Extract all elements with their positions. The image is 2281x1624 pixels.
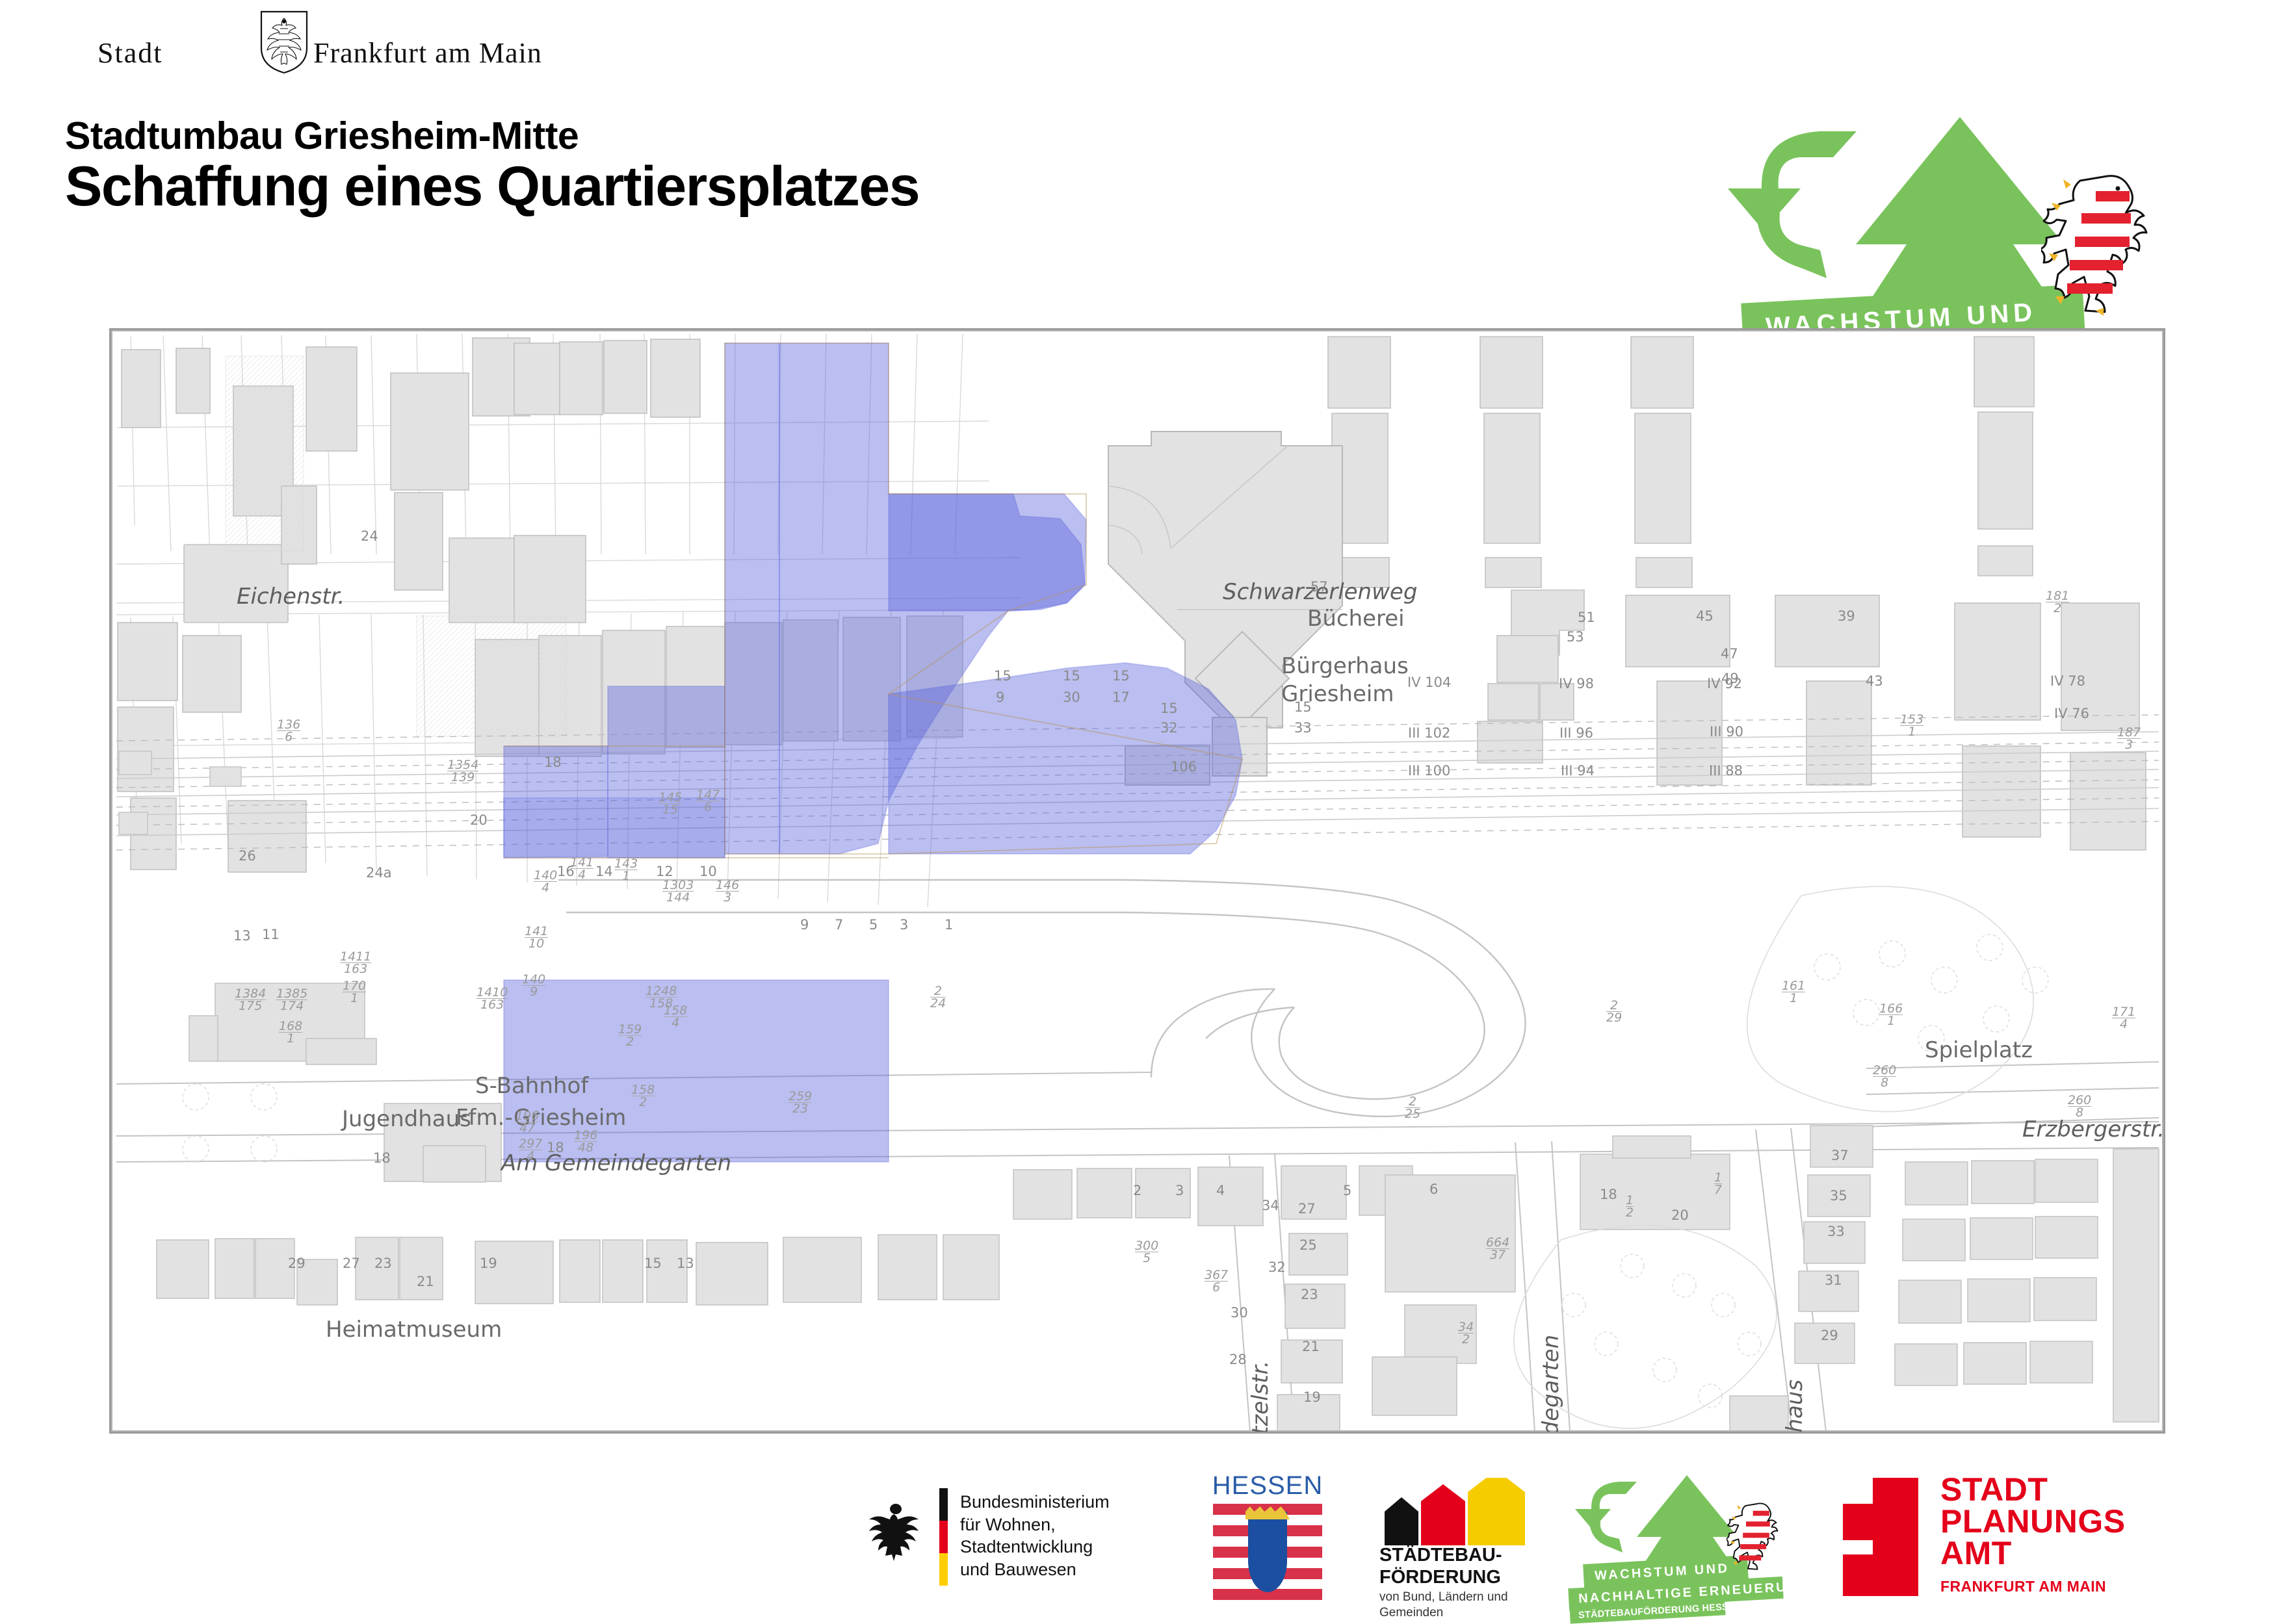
spa-wordmark: STADT PLANUNGS AMT bbox=[1940, 1474, 2126, 1569]
house-number-67: 29 bbox=[288, 1256, 306, 1271]
house-number-46: 18 bbox=[1600, 1187, 1617, 1202]
house-number-8: 10 bbox=[699, 864, 717, 879]
street-label-2: Erzbergerstr. bbox=[2022, 1116, 2165, 1142]
house-number-2: 26 bbox=[239, 848, 256, 864]
house-number-31: III 90 bbox=[1710, 724, 1743, 740]
parcel-number-4: 14515 bbox=[658, 792, 682, 816]
parcel-number-10: 1409 bbox=[522, 973, 545, 998]
bmwsb-text: Bundesministerium für Wohnen, Stadtentwi… bbox=[960, 1491, 1173, 1580]
house-number-28: IV 76 bbox=[2054, 706, 2089, 721]
parcel-number-27: 1661 bbox=[1879, 1003, 1903, 1027]
place-label-3: S-Bahnhof bbox=[475, 1073, 588, 1099]
bmwsb-line-3: und Bauwesen bbox=[960, 1558, 1173, 1581]
house-number-49: 35 bbox=[1830, 1188, 1847, 1204]
house-number-61: 28 bbox=[1229, 1352, 1247, 1367]
house-number-42: 15 bbox=[1160, 701, 1178, 716]
parcel-number-6: 1303144 bbox=[662, 879, 694, 903]
house-number-58: 34 bbox=[1262, 1198, 1279, 1213]
house-number-17: 51 bbox=[1578, 610, 1595, 625]
house-number-25: IV 98 bbox=[1559, 676, 1594, 691]
house-number-47: 20 bbox=[1671, 1207, 1689, 1223]
house-number-50: 33 bbox=[1827, 1224, 1845, 1239]
house-number-18: 53 bbox=[1567, 629, 1584, 645]
house-number-1: 24a bbox=[366, 865, 392, 881]
parcel-number-15: 1681 bbox=[279, 1020, 302, 1044]
house-number-39: 30 bbox=[1063, 690, 1080, 705]
three-houses-icon bbox=[1378, 1478, 1573, 1545]
parcel-number-0: 1366 bbox=[277, 719, 300, 743]
place-label-5: Jugendhaus bbox=[342, 1106, 471, 1132]
staedtebau-sub-1: von Bund, Ländern und bbox=[1379, 1590, 1508, 1605]
german-flag-bar bbox=[939, 1488, 948, 1586]
parcel-number-21: 25923 bbox=[789, 1090, 812, 1115]
house-number-9: 11 bbox=[262, 927, 280, 942]
house-number-52: 29 bbox=[1821, 1328, 1838, 1343]
house-number-43: 32 bbox=[1160, 720, 1178, 736]
house-number-13: 5 bbox=[869, 917, 878, 933]
house-number-71: 19 bbox=[480, 1256, 497, 1271]
stadtplanungsamt-logo: STADT PLANUNGS AMT FRANKFURT AM MAIN bbox=[1843, 1474, 2181, 1604]
house-number-57: 6 bbox=[1429, 1181, 1438, 1197]
house-number-54: 3 bbox=[1175, 1183, 1184, 1198]
house-number-74: 18 bbox=[373, 1150, 391, 1166]
parcel-number-3: 1431 bbox=[614, 858, 638, 882]
funding-logo-strip: Bundesministerium für Wohnen, Stadtentwi… bbox=[0, 1462, 2281, 1612]
parcel-number-30: 1812 bbox=[2046, 590, 2069, 614]
hessen-lion-icon bbox=[1727, 1500, 1786, 1573]
parcel-number-40: 17 bbox=[1714, 1172, 1722, 1196]
parcel-number-13: 1385174 bbox=[276, 988, 307, 1012]
house-number-21: 47 bbox=[1721, 646, 1738, 662]
page-title: Schaffung eines Quartiersplatzes bbox=[65, 155, 919, 219]
house-number-51: 31 bbox=[1825, 1272, 1842, 1288]
parcel-number-31: 19647 bbox=[515, 1110, 539, 1134]
house-number-60: 30 bbox=[1231, 1305, 1248, 1321]
parcel-number-28: 1714 bbox=[2112, 1006, 2135, 1030]
hessen-shield-icon bbox=[1213, 1504, 1322, 1600]
house-number-69: 23 bbox=[374, 1256, 392, 1271]
logo-word-stadt: Stadt bbox=[98, 36, 163, 70]
house-number-15: 1 bbox=[945, 917, 953, 933]
parcel-number-18: 1584 bbox=[664, 1005, 687, 1029]
house-number-68: 27 bbox=[343, 1256, 360, 1271]
house-number-34: III 88 bbox=[1709, 763, 1743, 779]
spa-block-mark-icon bbox=[1843, 1478, 1918, 1596]
project-subtitle: Stadtumbau Griesheim-Mitte bbox=[65, 114, 579, 158]
house-number-72: 15 bbox=[644, 1256, 662, 1271]
parcel-number-37: 342 bbox=[1458, 1321, 1474, 1345]
house-number-62: 27 bbox=[1298, 1201, 1316, 1217]
house-number-10: 13 bbox=[233, 928, 251, 944]
hessen-lion-icon bbox=[2041, 169, 2165, 318]
hessen-wordmark: HESSEN bbox=[1209, 1471, 1326, 1501]
parcel-number-14: 1701 bbox=[343, 980, 366, 1004]
staedtebau-sub-2: Gemeinden bbox=[1379, 1605, 1508, 1621]
house-number-16: 57 bbox=[1310, 579, 1328, 595]
parcel-number-12: 1384175 bbox=[235, 988, 266, 1012]
growth-arrow-icon bbox=[1637, 1475, 1738, 1566]
parcel-number-8: 1404 bbox=[534, 870, 557, 894]
spa-subline: FRANKFURT AM MAIN bbox=[1940, 1578, 2106, 1595]
parcel-number-23: 225 bbox=[1405, 1096, 1420, 1120]
house-number-19: 45 bbox=[1696, 608, 1714, 624]
house-number-59: 32 bbox=[1268, 1259, 1286, 1275]
parcel-number-9: 14110 bbox=[525, 925, 548, 949]
parcel-number-39: 2608 bbox=[1873, 1064, 1896, 1089]
house-number-24: IV 104 bbox=[1407, 675, 1451, 690]
parcel-number-41: 12 bbox=[1626, 1194, 1634, 1218]
staedtebau-sub: von Bund, Ländern und Gemeinden bbox=[1379, 1590, 1508, 1621]
cadastral-map[interactable]: Eichenstr.SchwarzerlenwegErzbergerstr.Am… bbox=[109, 328, 2165, 1434]
street-label-4: Obere Rützelstr. bbox=[1247, 1361, 1273, 1434]
house-number-66: 19 bbox=[1303, 1389, 1321, 1405]
staedtebaufoerderung-logo: STÄDTEBAU- FÖRDERUNG von Bund, Ländern u… bbox=[1378, 1474, 1593, 1604]
parcel-number-19: 1592 bbox=[618, 1024, 642, 1048]
frankfurt-eagle-crest-icon bbox=[259, 10, 309, 74]
house-number-40: 15 bbox=[1112, 668, 1130, 684]
spa-line-3: AMT bbox=[1940, 1538, 2126, 1569]
staedtebau-title: STÄDTEBAU- FÖRDERUNG bbox=[1379, 1544, 1502, 1588]
house-number-4: 18 bbox=[544, 754, 562, 770]
parcel-number-32: 19648 bbox=[574, 1129, 597, 1154]
place-label-0: Bücherei bbox=[1307, 606, 1405, 632]
house-number-45: 33 bbox=[1294, 720, 1312, 736]
parcel-number-24: 229 bbox=[1606, 999, 1622, 1024]
place-label-6: Heimatmuseum bbox=[326, 1317, 502, 1343]
house-number-7: 12 bbox=[656, 864, 673, 879]
house-number-0: 24 bbox=[361, 528, 378, 544]
house-number-6: 14 bbox=[595, 864, 613, 879]
growth-arrow-icon bbox=[1856, 117, 2064, 305]
spa-line-2: PLANUNGS bbox=[1940, 1506, 2126, 1538]
house-number-23: 43 bbox=[1866, 673, 1883, 689]
spa-line-1: STADT bbox=[1940, 1474, 2126, 1506]
place-label-4: Ffm.-Griesheim bbox=[456, 1105, 626, 1131]
wachstum-erneuerung-logo-footer: WACHSTUM UND NACHHALTIGE ERNEUERUNG STÄD… bbox=[1573, 1475, 1846, 1605]
parcel-number-7: 1463 bbox=[716, 879, 739, 903]
bmwsb-logo: Bundesministerium für Wohnen, Stadtentwi… bbox=[868, 1476, 1173, 1593]
house-number-33: III 94 bbox=[1561, 763, 1595, 779]
house-number-11: 9 bbox=[800, 917, 809, 933]
parcel-number-1: 1354139 bbox=[447, 759, 478, 783]
parcel-number-25: 1531 bbox=[1900, 714, 1923, 738]
bundesadler-icon bbox=[868, 1499, 924, 1561]
house-number-37: 9 bbox=[996, 690, 1004, 705]
house-number-55: 4 bbox=[1216, 1183, 1225, 1198]
house-number-29: III 102 bbox=[1408, 725, 1450, 741]
parcel-number-22: 224 bbox=[930, 985, 946, 1009]
house-number-26: IV 92 bbox=[1707, 676, 1742, 691]
staedtebau-line-1: STÄDTEBAU- bbox=[1379, 1544, 1502, 1566]
logo-word-frankfurt: Frankfurt am Main bbox=[313, 36, 542, 70]
house-number-48: 37 bbox=[1831, 1148, 1849, 1163]
parcel-number-35: 3676 bbox=[1205, 1269, 1228, 1293]
parcel-number-2: 1414 bbox=[570, 857, 593, 881]
house-number-75: 18 bbox=[547, 1140, 564, 1155]
house-number-14: 3 bbox=[900, 917, 908, 933]
parcel-number-38: 2608 bbox=[2068, 1094, 2091, 1118]
parcel-number-16: 1410163 bbox=[476, 986, 508, 1011]
place-label-7: Spielplatz bbox=[1925, 1037, 2033, 1063]
house-number-35: 106 bbox=[1171, 759, 1197, 775]
parcel-number-5: 1476 bbox=[696, 789, 720, 813]
house-number-44: 15 bbox=[1294, 699, 1312, 715]
parcel-number-29: 1873 bbox=[2117, 727, 2141, 751]
house-number-30: III 96 bbox=[1559, 725, 1593, 741]
parcel-number-36: 66437 bbox=[1486, 1237, 1509, 1261]
place-label-1: Bürgerhaus bbox=[1281, 653, 1409, 679]
house-number-27: IV 78 bbox=[2050, 673, 2085, 689]
house-number-41: 17 bbox=[1112, 690, 1130, 705]
parcel-number-34: 3005 bbox=[1135, 1240, 1158, 1264]
staedtebau-line-2: FÖRDERUNG bbox=[1379, 1566, 1502, 1588]
house-number-20: 39 bbox=[1838, 608, 1855, 624]
house-number-63: 25 bbox=[1299, 1237, 1317, 1253]
page-header: Stadt Frankfurt am Main Stadtumbau Gries… bbox=[0, 0, 2281, 312]
house-number-56: 5 bbox=[1343, 1183, 1351, 1198]
bmwsb-line-1: Bundesministerium bbox=[960, 1491, 1173, 1514]
bmwsb-line-2: für Wohnen, Stadtentwicklung bbox=[960, 1514, 1173, 1558]
house-number-12: 7 bbox=[835, 917, 843, 933]
hessen-logo: HESSEN bbox=[1209, 1471, 1326, 1601]
street-label-6: Am Brennhaus bbox=[1782, 1380, 1808, 1434]
map-drawing bbox=[111, 330, 2163, 1432]
parcel-number-33: 2974 bbox=[519, 1138, 542, 1162]
house-number-65: 21 bbox=[1302, 1339, 1320, 1354]
stadt-frankfurt-logo: Stadt Frankfurt am Main bbox=[98, 27, 514, 66]
house-number-73: 13 bbox=[677, 1256, 694, 1271]
street-label-5: Am Gemeindegarten bbox=[1538, 1335, 1564, 1434]
house-number-32: III 100 bbox=[1408, 763, 1450, 779]
house-number-36: 15 bbox=[994, 668, 1011, 684]
house-number-64: 23 bbox=[1301, 1287, 1318, 1302]
house-number-38: 15 bbox=[1063, 668, 1080, 684]
house-number-70: 21 bbox=[417, 1274, 434, 1289]
parcel-number-11: 1411163 bbox=[340, 951, 371, 975]
house-number-53: 2 bbox=[1133, 1183, 1141, 1198]
house-number-3: 20 bbox=[470, 812, 488, 828]
parcel-number-26: 1611 bbox=[1782, 980, 1805, 1004]
parcel-number-20: 1582 bbox=[631, 1084, 655, 1108]
street-label-0: Eichenstr. bbox=[237, 584, 345, 610]
